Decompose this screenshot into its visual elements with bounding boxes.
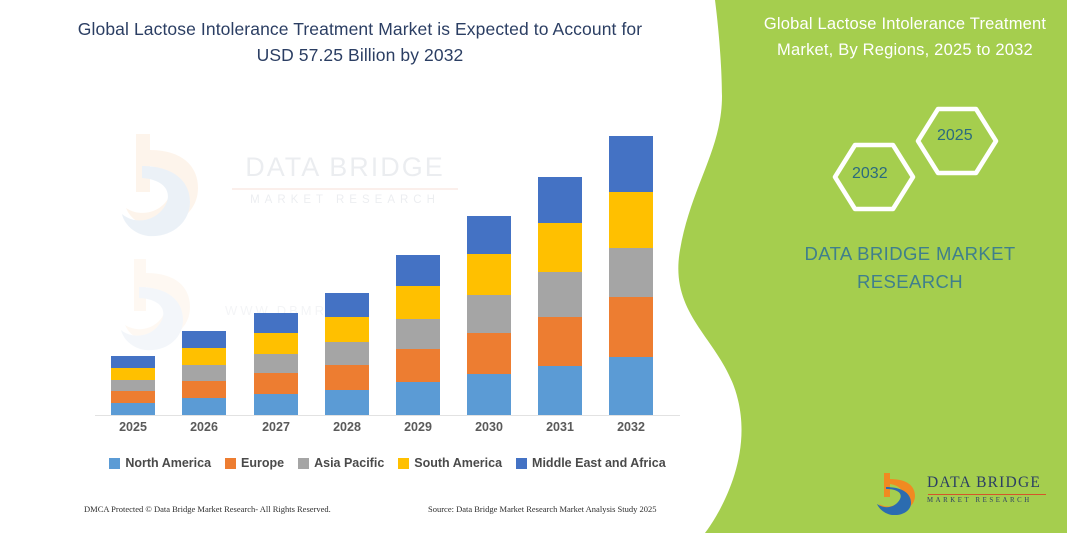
bar-segment-asia-pacific-2032[interactable] bbox=[609, 248, 653, 297]
bar-column-2027[interactable] bbox=[254, 313, 298, 415]
brand-name-line1: DATA BRIDGE MARKET bbox=[770, 240, 1050, 268]
bar-segment-asia-pacific-2030[interactable] bbox=[467, 295, 511, 333]
legend-swatch-icon bbox=[225, 458, 236, 469]
brand-name-line2: RESEARCH bbox=[770, 268, 1050, 296]
company-logo: DATA BRIDGE MARKET RESEARCH bbox=[875, 470, 1050, 518]
bar-segment-north-america-2031[interactable] bbox=[538, 366, 582, 415]
panel-title: Global Lactose Intolerance Treatment Mar… bbox=[760, 12, 1050, 63]
bar-segment-south-america-2027[interactable] bbox=[254, 333, 298, 354]
legend-label: Asia Pacific bbox=[314, 456, 384, 470]
legend-label: Europe bbox=[241, 456, 284, 470]
logo-rule bbox=[928, 494, 1046, 495]
hexagon-2032-label: 2032 bbox=[852, 165, 888, 183]
bar-segment-north-america-2032[interactable] bbox=[609, 357, 653, 415]
x-axis-labels: 20252026202720282029203020312032 bbox=[95, 420, 680, 442]
bar-segment-north-america-2030[interactable] bbox=[467, 374, 511, 415]
bar-segment-south-america-2026[interactable] bbox=[182, 348, 226, 365]
legend-swatch-icon bbox=[109, 458, 120, 469]
footer: DMCA Protected © Data Bridge Market Rese… bbox=[0, 504, 700, 526]
logo-sub-text: MARKET RESEARCH bbox=[927, 497, 1047, 504]
bar-segment-north-america-2028[interactable] bbox=[325, 390, 369, 415]
bar-segment-asia-pacific-2026[interactable] bbox=[182, 365, 226, 381]
data-bridge-logo-icon bbox=[875, 471, 921, 515]
x-axis-label-2027: 2027 bbox=[246, 420, 306, 434]
bar-segment-asia-pacific-2025[interactable] bbox=[111, 380, 155, 391]
footer-copyright: DMCA Protected © Data Bridge Market Rese… bbox=[84, 504, 331, 514]
legend-item-north-america[interactable]: North America bbox=[109, 456, 211, 470]
plot-area bbox=[95, 110, 680, 416]
bar-segment-south-america-2025[interactable] bbox=[111, 368, 155, 380]
x-axis-label-2032: 2032 bbox=[601, 420, 661, 434]
bar-segment-europe-2025[interactable] bbox=[111, 391, 155, 403]
legend-swatch-icon bbox=[398, 458, 409, 469]
bar-segment-middle-east-and-africa-2028[interactable] bbox=[325, 293, 369, 317]
bar-segment-europe-2029[interactable] bbox=[396, 349, 440, 382]
axis-baseline bbox=[95, 415, 680, 416]
bar-segment-middle-east-and-africa-2025[interactable] bbox=[111, 356, 155, 368]
legend-label: Middle East and Africa bbox=[532, 456, 666, 470]
bar-segment-middle-east-and-africa-2027[interactable] bbox=[254, 313, 298, 333]
bar-column-2028[interactable] bbox=[325, 293, 369, 415]
bar-segment-middle-east-and-africa-2029[interactable] bbox=[396, 255, 440, 286]
bar-column-2025[interactable] bbox=[111, 356, 155, 415]
bar-segment-europe-2031[interactable] bbox=[538, 317, 582, 366]
bar-segment-south-america-2030[interactable] bbox=[467, 254, 511, 295]
bar-column-2032[interactable] bbox=[609, 136, 653, 415]
bar-segment-north-america-2027[interactable] bbox=[254, 394, 298, 415]
bar-segment-asia-pacific-2029[interactable] bbox=[396, 319, 440, 349]
bar-segment-south-america-2029[interactable] bbox=[396, 286, 440, 319]
legend-label: South America bbox=[414, 456, 502, 470]
legend-swatch-icon bbox=[298, 458, 309, 469]
chart-legend: North AmericaEuropeAsia PacificSouth Ame… bbox=[95, 452, 680, 474]
hexagon-group: 2025 2032 bbox=[810, 105, 1040, 215]
bar-segment-north-america-2029[interactable] bbox=[396, 382, 440, 415]
footer-source: Source: Data Bridge Market Research Mark… bbox=[428, 504, 657, 514]
bar-segment-europe-2032[interactable] bbox=[609, 297, 653, 357]
bar-segment-south-america-2031[interactable] bbox=[538, 223, 582, 272]
hexagon-shapes-icon bbox=[810, 105, 1040, 215]
bar-segment-middle-east-and-africa-2030[interactable] bbox=[467, 216, 511, 254]
x-axis-label-2031: 2031 bbox=[530, 420, 590, 434]
bar-column-2029[interactable] bbox=[396, 255, 440, 415]
brand-name: DATA BRIDGE MARKET RESEARCH bbox=[770, 240, 1050, 296]
infographic-root: Global Lactose Intolerance Treatment Mar… bbox=[0, 0, 1067, 533]
logo-main-text: DATA BRIDGE bbox=[927, 474, 1047, 492]
bar-segment-europe-2030[interactable] bbox=[467, 333, 511, 374]
bar-segment-asia-pacific-2028[interactable] bbox=[325, 342, 369, 365]
bar-column-2026[interactable] bbox=[182, 331, 226, 415]
bar-segment-middle-east-and-africa-2031[interactable] bbox=[538, 177, 582, 223]
bar-segment-europe-2028[interactable] bbox=[325, 365, 369, 390]
branding-panel: Global Lactose Intolerance Treatment Mar… bbox=[660, 0, 1067, 533]
bar-column-2031[interactable] bbox=[538, 177, 582, 415]
x-axis-label-2028: 2028 bbox=[317, 420, 377, 434]
bar-segment-south-america-2028[interactable] bbox=[325, 317, 369, 342]
legend-item-south-america[interactable]: South America bbox=[398, 456, 502, 470]
x-axis-label-2026: 2026 bbox=[174, 420, 234, 434]
page-title: Global Lactose Intolerance Treatment Mar… bbox=[60, 16, 660, 69]
bar-segment-asia-pacific-2027[interactable] bbox=[254, 354, 298, 373]
x-axis-label-2029: 2029 bbox=[388, 420, 448, 434]
bar-segment-asia-pacific-2031[interactable] bbox=[538, 272, 582, 317]
legend-item-europe[interactable]: Europe bbox=[225, 456, 284, 470]
legend-label: North America bbox=[125, 456, 211, 470]
bar-segment-middle-east-and-africa-2032[interactable] bbox=[609, 136, 653, 192]
bar-segment-middle-east-and-africa-2026[interactable] bbox=[182, 331, 226, 348]
branding-panel-content: Global Lactose Intolerance Treatment Mar… bbox=[660, 0, 1067, 533]
logo-text: DATA BRIDGE MARKET RESEARCH bbox=[927, 474, 1047, 504]
bar-column-2030[interactable] bbox=[467, 216, 511, 415]
legend-item-middle-east-and-africa[interactable]: Middle East and Africa bbox=[516, 456, 666, 470]
legend-swatch-icon bbox=[516, 458, 527, 469]
hexagon-2025-label: 2025 bbox=[937, 127, 973, 145]
bar-segment-north-america-2026[interactable] bbox=[182, 398, 226, 415]
bar-segment-europe-2026[interactable] bbox=[182, 381, 226, 398]
x-axis-label-2025: 2025 bbox=[103, 420, 163, 434]
x-axis-label-2030: 2030 bbox=[459, 420, 519, 434]
legend-item-asia-pacific[interactable]: Asia Pacific bbox=[298, 456, 384, 470]
bar-segment-north-america-2025[interactable] bbox=[111, 403, 155, 415]
bar-segment-south-america-2032[interactable] bbox=[609, 192, 653, 248]
bar-segment-europe-2027[interactable] bbox=[254, 373, 298, 394]
chart-panel: Global Lactose Intolerance Treatment Mar… bbox=[0, 0, 710, 533]
